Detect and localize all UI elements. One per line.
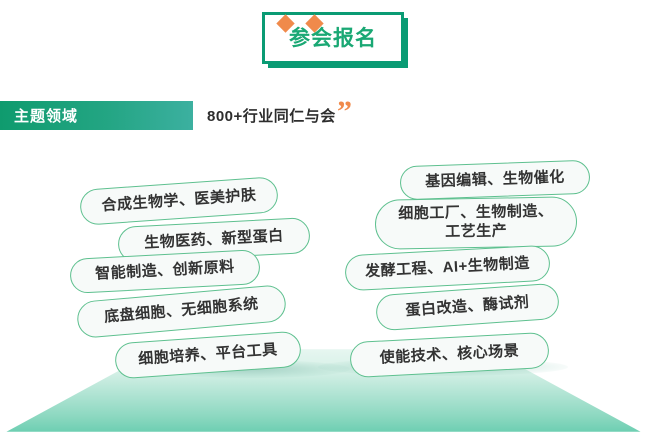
topic-pill[interactable]: 细胞工厂、生物制造、 工艺生产 — [375, 196, 578, 250]
topic-pill[interactable]: 合成生物学、医美护肤 — [79, 176, 279, 226]
section-banner: 主题领域 — [0, 101, 193, 130]
page-title: 参会报名 — [289, 28, 377, 49]
topic-pill[interactable]: 智能制造、创新原料 — [69, 249, 261, 294]
section-banner-label: 主题领域 — [14, 105, 78, 126]
page-title-badge: 参会报名 — [262, 12, 402, 62]
section-subtitle: 800+行业同仁与会 — [207, 105, 336, 126]
topic-pill[interactable]: 基因编辑、生物催化 — [399, 160, 590, 201]
platform-base — [0, 330, 647, 443]
topic-pill[interactable]: 蛋白改造、酶试剂 — [375, 283, 560, 332]
platform-surface — [0, 330, 647, 443]
quote-mark-icon: ” — [337, 97, 352, 127]
